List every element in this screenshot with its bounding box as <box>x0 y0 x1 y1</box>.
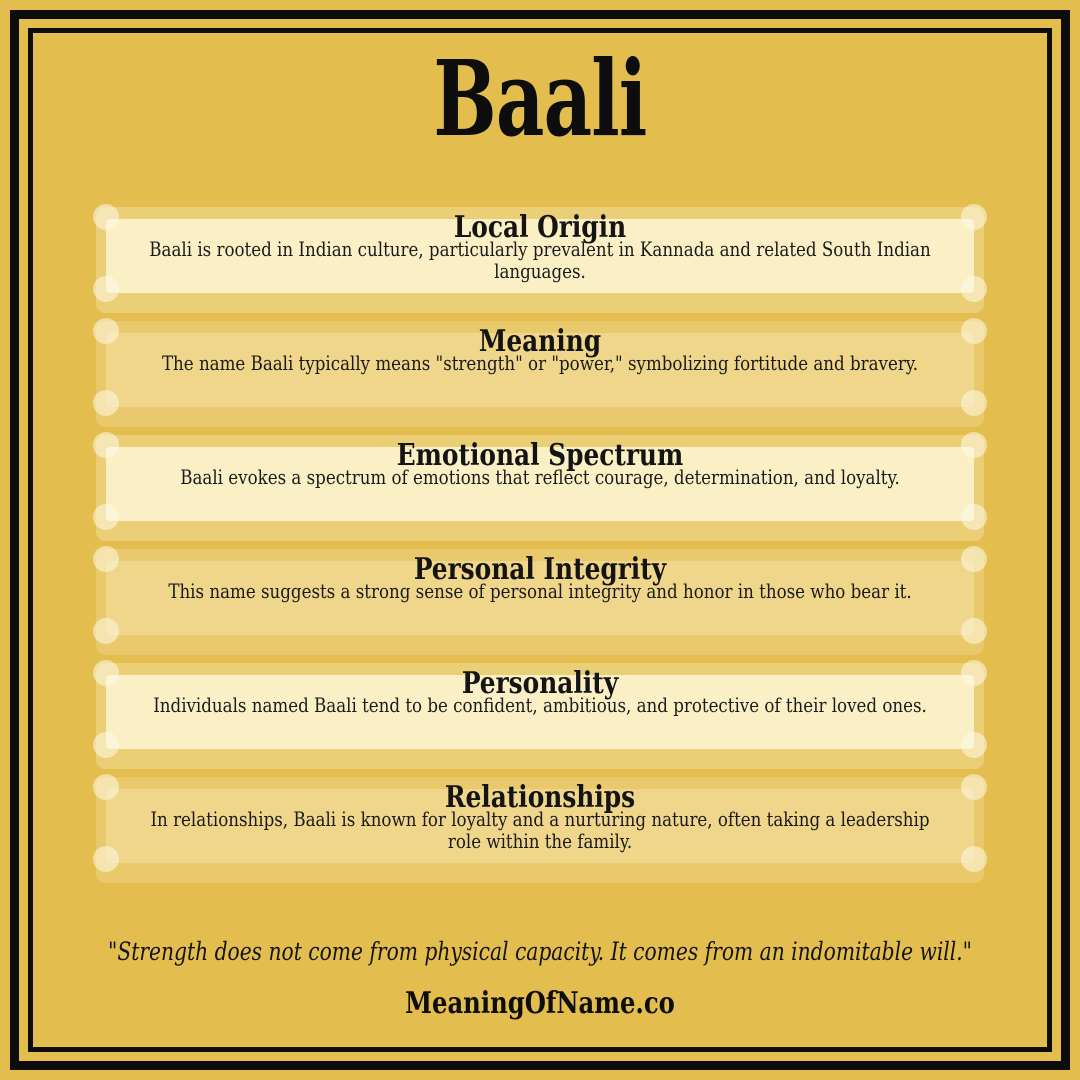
corner-knob-icon <box>961 660 987 686</box>
section-card-relationships: Relationships In relationships, Baali is… <box>96 777 984 883</box>
corner-knob-icon <box>961 204 987 230</box>
card-text: Personality Individuals named Baali tend… <box>120 669 960 717</box>
card-body: In relationships, Baali is known for loy… <box>141 809 939 853</box>
corner-knob-icon <box>93 318 119 344</box>
card-text: Emotional Spectrum Baali evokes a spectr… <box>120 441 960 489</box>
section-card-meaning: Meaning The name Baali typically means "… <box>96 321 984 427</box>
section-card-emotional-spectrum: Emotional Spectrum Baali evokes a spectr… <box>96 435 984 541</box>
corner-knob-icon <box>93 732 119 758</box>
corner-knob-icon <box>961 318 987 344</box>
site-attribution: MeaningOfName.co <box>84 987 997 1021</box>
corner-knob-icon <box>961 546 987 572</box>
section-card-personal-integrity: Personal Integrity This name suggests a … <box>96 549 984 655</box>
corner-knob-icon <box>93 846 119 872</box>
corner-knob-icon <box>93 774 119 800</box>
corner-knob-icon <box>961 504 987 530</box>
corner-knob-icon <box>961 432 987 458</box>
card-body: The name Baali typically means "strength… <box>141 353 939 375</box>
corner-knob-icon <box>93 660 119 686</box>
corner-knob-icon <box>961 618 987 644</box>
page-title: Baali <box>134 36 945 162</box>
corner-knob-icon <box>961 846 987 872</box>
corner-knob-icon <box>93 504 119 530</box>
corner-knob-icon <box>961 774 987 800</box>
card-body: Baali evokes a spectrum of emotions that… <box>141 467 939 489</box>
name-meaning-poster: Baali Local Origin Baali is rooted in In… <box>0 0 1080 1080</box>
quote-text: "Strength does not come from physical ca… <box>84 937 997 967</box>
card-text: Meaning The name Baali typically means "… <box>120 327 960 375</box>
card-text: Personal Integrity This name suggests a … <box>120 555 960 603</box>
section-card-list: Local Origin Baali is rooted in Indian c… <box>33 207 1047 891</box>
corner-knob-icon <box>93 390 119 416</box>
section-card-personality: Personality Individuals named Baali tend… <box>96 663 984 769</box>
section-card-local-origin: Local Origin Baali is rooted in Indian c… <box>96 207 984 313</box>
card-text: Local Origin Baali is rooted in Indian c… <box>120 213 960 283</box>
card-body: Individuals named Baali tend to be confi… <box>141 695 939 717</box>
corner-knob-icon <box>93 204 119 230</box>
poster-content: Baali Local Origin Baali is rooted in In… <box>33 33 1047 1047</box>
corner-knob-icon <box>93 276 119 302</box>
corner-knob-icon <box>961 276 987 302</box>
corner-knob-icon <box>961 732 987 758</box>
corner-knob-icon <box>93 546 119 572</box>
corner-knob-icon <box>93 618 119 644</box>
corner-knob-icon <box>961 390 987 416</box>
card-body: Baali is rooted in Indian culture, parti… <box>141 239 939 283</box>
card-text: Relationships In relationships, Baali is… <box>120 783 960 853</box>
card-body: This name suggests a strong sense of per… <box>141 581 939 603</box>
corner-knob-icon <box>93 432 119 458</box>
